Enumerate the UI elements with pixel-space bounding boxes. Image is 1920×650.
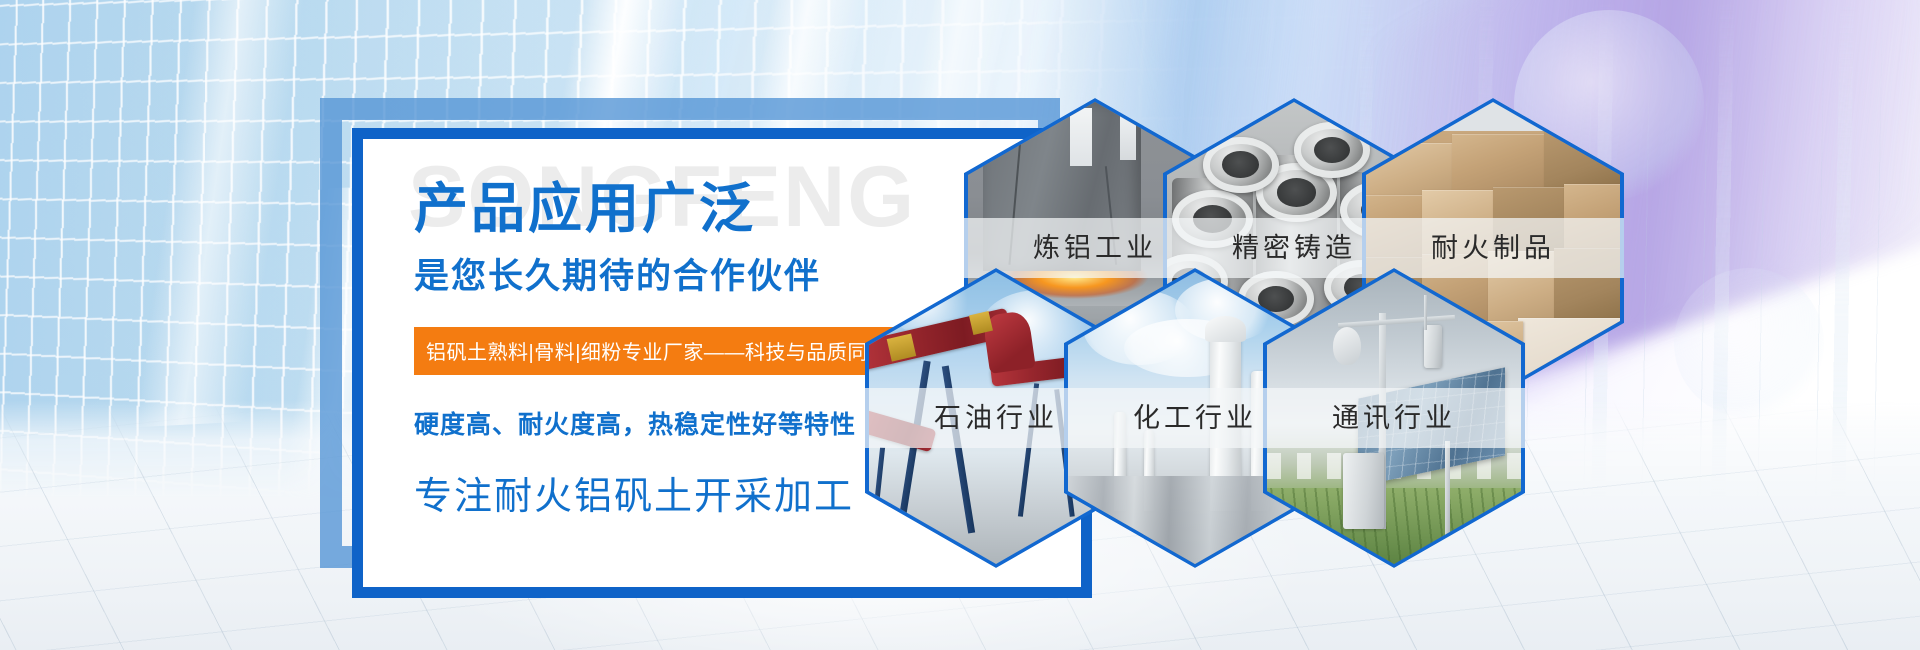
hexagon-label: 耐火制品 xyxy=(1362,218,1624,278)
orange-tagline-bar: 铝矾土熟料|骨料|细粉专业厂家——科技与品质同行 xyxy=(414,327,900,375)
hexagon-label: 通讯行业 xyxy=(1263,388,1525,448)
banner-stage: SONGFENG 产品应用广泛 是您长久期待的合作伙伴 铝矾土熟料|骨料|细粉专… xyxy=(0,0,1920,650)
